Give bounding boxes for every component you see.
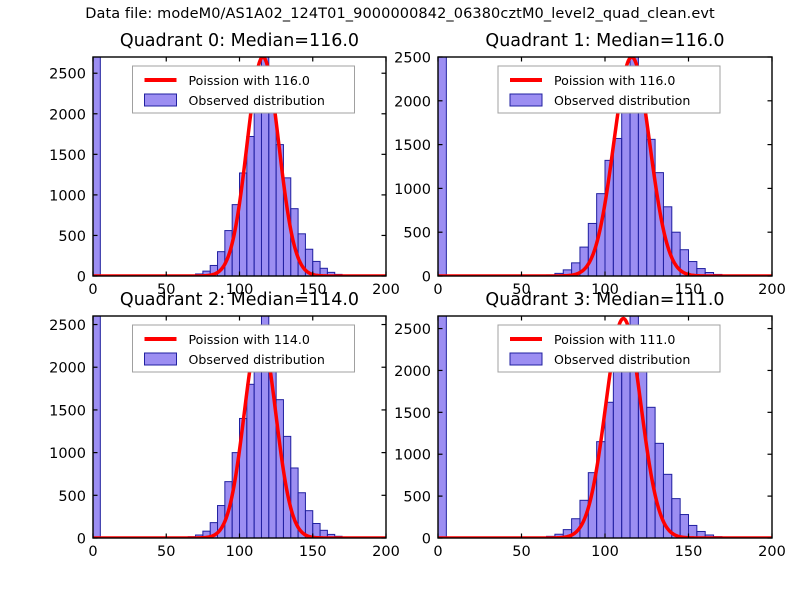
histogram-bar <box>438 57 446 276</box>
histogram-bar <box>247 384 254 538</box>
x-tick-label: 200 <box>372 282 400 298</box>
histogram-bar <box>622 98 630 276</box>
subplot-quadrant-0: 05010015020005001000150020002500Quadrant… <box>49 31 400 298</box>
y-tick-label: 0 <box>77 270 86 286</box>
legend-bar-swatch <box>145 94 177 106</box>
legend-label-observed: Observed distribution <box>189 352 325 367</box>
x-tick-label: 150 <box>675 544 703 560</box>
legend-label-poisson: Poission with 116.0 <box>189 73 310 88</box>
x-tick-label: 100 <box>591 544 619 560</box>
legend-label-observed: Observed distribution <box>554 93 690 108</box>
y-tick-label: 0 <box>422 532 431 548</box>
legend-label-poisson: Poission with 116.0 <box>554 73 675 88</box>
x-tick-label: 50 <box>157 544 175 560</box>
y-tick-label: 2000 <box>49 107 86 123</box>
legend[interactable]: Poission with 116.0Observed distribution <box>133 66 355 113</box>
y-tick-label: 1000 <box>49 188 86 204</box>
legend-label-observed: Observed distribution <box>189 93 325 108</box>
y-tick-label: 500 <box>58 229 86 245</box>
y-tick-label: 1500 <box>49 403 86 419</box>
x-tick-label: 0 <box>433 282 442 298</box>
y-tick-label: 2000 <box>49 361 86 377</box>
legend[interactable]: Poission with 111.0Observed distribution <box>498 325 720 372</box>
x-tick-label: 50 <box>512 544 530 560</box>
plot-canvas: 05010015020005001000150020002500Quadrant… <box>0 0 800 600</box>
legend-bar-swatch <box>510 94 542 106</box>
subplot-quadrant-1: 05010015020005001000150020002500Quadrant… <box>394 31 786 298</box>
subplot-quadrant-3: 05010015020005001000150020002500Quadrant… <box>394 290 786 560</box>
subplot-quadrant-2: 05010015020005001000150020002500Quadrant… <box>49 290 400 560</box>
y-tick-label: 2500 <box>49 318 86 334</box>
x-tick-label: 100 <box>226 544 254 560</box>
x-tick-label: 200 <box>758 544 786 560</box>
legend-label-poisson: Poission with 111.0 <box>554 332 675 347</box>
x-tick-label: 0 <box>88 544 97 560</box>
figure-suptitle: Data file: modeM0/AS1A02_124T01_90000008… <box>0 6 800 22</box>
legend-label-observed: Observed distribution <box>554 352 690 367</box>
x-tick-label: 200 <box>758 282 786 298</box>
y-tick-label: 2500 <box>394 322 431 338</box>
subplot-title: Quadrant 3: Median=111.0 <box>485 290 724 310</box>
histogram-bar <box>605 402 613 538</box>
histogram-bar <box>613 366 621 538</box>
histogram-bar <box>269 106 276 276</box>
histogram-bar <box>438 316 446 538</box>
y-tick-label: 2000 <box>394 364 431 380</box>
y-tick-label: 1000 <box>394 448 431 464</box>
legend[interactable]: Poission with 114.0Observed distribution <box>133 325 355 372</box>
y-tick-label: 1500 <box>394 406 431 422</box>
histogram-bar <box>247 136 254 276</box>
y-tick-label: 0 <box>77 532 86 548</box>
histogram-bar <box>613 138 621 276</box>
histogram-bar <box>254 98 261 276</box>
histogram-bar <box>680 515 688 538</box>
matplotlib-figure: Data file: modeM0/AS1A02_124T01_90000008… <box>0 0 800 600</box>
y-tick-label: 0 <box>422 270 431 286</box>
y-tick-label: 2000 <box>394 94 431 110</box>
y-tick-label: 1500 <box>394 138 431 154</box>
y-tick-label: 500 <box>403 490 431 506</box>
x-tick-label: 0 <box>433 544 442 560</box>
y-tick-label: 500 <box>403 226 431 242</box>
legend-bar-swatch <box>145 353 177 365</box>
y-tick-label: 1500 <box>49 148 86 164</box>
histogram-bar <box>93 57 100 276</box>
y-tick-label: 1000 <box>49 446 86 462</box>
histogram-bar <box>254 348 261 538</box>
subplot-title: Quadrant 2: Median=114.0 <box>120 290 359 310</box>
subplot-title: Quadrant 1: Median=116.0 <box>485 31 724 51</box>
y-tick-label: 500 <box>58 489 86 505</box>
legend-bar-swatch <box>510 353 542 365</box>
y-tick-label: 2500 <box>49 67 86 83</box>
legend-label-poisson: Poission with 114.0 <box>189 332 310 347</box>
subplot-title: Quadrant 0: Median=116.0 <box>120 31 359 51</box>
y-tick-label: 2500 <box>394 51 431 67</box>
y-tick-label: 1000 <box>394 182 431 198</box>
x-tick-label: 0 <box>88 282 97 298</box>
histogram-bar <box>93 316 100 538</box>
x-tick-label: 150 <box>299 544 327 560</box>
legend[interactable]: Poission with 116.0Observed distribution <box>498 66 720 113</box>
histogram-bar <box>655 443 663 538</box>
x-tick-label: 200 <box>372 544 400 560</box>
